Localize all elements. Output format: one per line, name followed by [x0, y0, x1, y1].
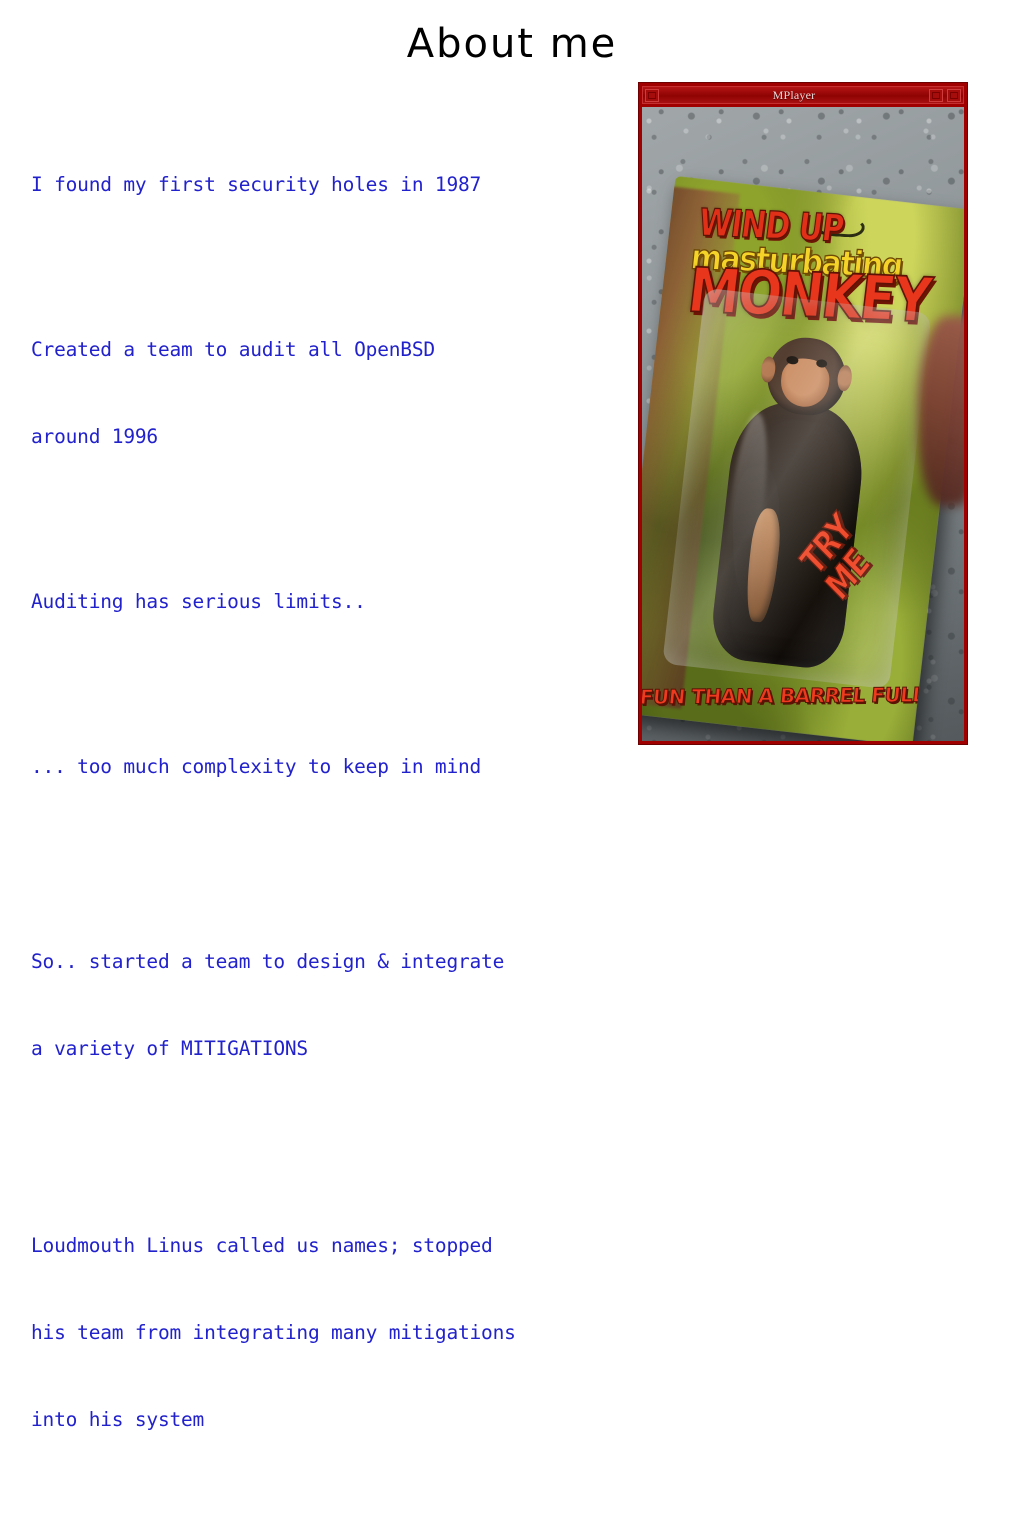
mplayer-title-label: MPlayer	[661, 88, 927, 103]
bullet-line: into his system	[31, 1405, 631, 1434]
spacer	[31, 509, 631, 529]
mplayer-video-area[interactable]: WIND UP masturbating MONKEY TRY ME	[642, 107, 964, 741]
bullet-paragraph-4: ... too much complexity to keep in mind	[31, 694, 631, 839]
bullet-line: Created a team to audit all OpenBSD	[31, 335, 631, 364]
package-headline-big: MONKEY	[685, 263, 964, 333]
bullet-paragraph-6: Loudmouth Linus called us names; stopped…	[31, 1173, 631, 1492]
bullet-line: his team from integrating many mitigatio…	[31, 1318, 631, 1347]
bullet-line: a variety of MITIGATIONS	[31, 1034, 631, 1063]
bullet-line: ... too much complexity to keep in mind	[31, 752, 631, 781]
bullet-paragraph-5: So.. started a team to design & integrat…	[31, 889, 631, 1121]
bullet-paragraph-7: See recent article in Washington Post.	[31, 1512, 631, 1536]
page-title: About me	[0, 22, 1024, 66]
package-headline: WIND UP masturbating MONKEY	[685, 210, 964, 334]
bullet-line: around 1996	[31, 422, 631, 451]
slide-body: I found my first security holes in 1987 …	[31, 112, 631, 1536]
menu-button[interactable]	[645, 89, 659, 102]
package-tagline-label: RE FUN THAN A BARREL FULL...	[642, 683, 947, 710]
monkey-ear-left	[760, 356, 777, 384]
spacer	[31, 674, 631, 694]
bullet-line: So.. started a team to design & integrat…	[31, 947, 631, 976]
monkey-ear-right	[836, 364, 853, 392]
bullet-line: Auditing has serious limits..	[31, 587, 631, 616]
package-tagline: RE FUN THAN A BARREL FULL...	[642, 683, 935, 710]
spacer	[31, 1492, 631, 1512]
bullet-line: Loudmouth Linus called us names; stopped	[31, 1231, 631, 1260]
close-button[interactable]	[947, 89, 961, 102]
bullet-paragraph-2: Created a team to audit all OpenBSD arou…	[31, 277, 631, 509]
bullet-line: I found my first security holes in 1987	[31, 170, 631, 199]
spacer	[31, 839, 631, 889]
window-controls	[927, 89, 963, 102]
toy-package: WIND UP masturbating MONKEY TRY ME	[642, 176, 964, 741]
mplayer-window[interactable]: MPlayer WIND UP masturbating MONKEY	[638, 82, 968, 745]
mplayer-titlebar[interactable]: MPlayer	[642, 86, 964, 104]
spacer	[31, 1121, 631, 1173]
spacer	[31, 257, 631, 277]
bullet-paragraph-3: Auditing has serious limits..	[31, 529, 631, 674]
minimize-button[interactable]	[929, 89, 943, 102]
bullet-paragraph-1: I found my first security holes in 1987	[31, 112, 631, 257]
